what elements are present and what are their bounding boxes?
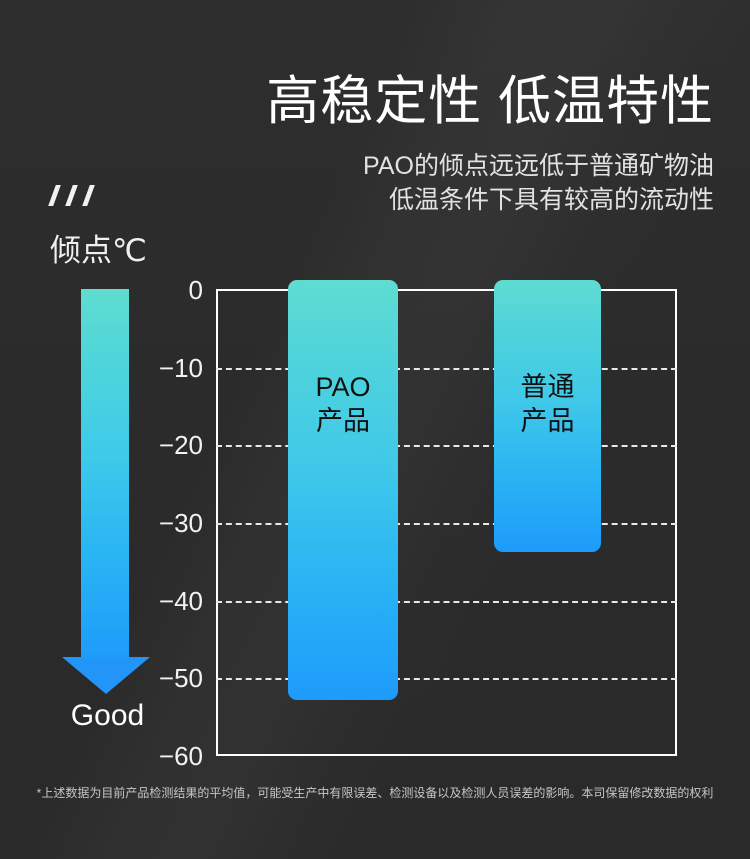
y-axis-title: 倾点℃ (50, 232, 147, 270)
arrow-head (62, 657, 150, 694)
bar-label-line-2: 产品 (288, 404, 398, 438)
y-tick-label: −10 (159, 355, 203, 381)
y-tick-label: −60 (159, 743, 203, 769)
bar-label-line-1: PAO (288, 370, 398, 404)
slash-mark-2 (65, 185, 78, 206)
y-tick-label: −50 (159, 665, 203, 691)
slash-mark-1 (48, 185, 61, 206)
y-tick-label: −30 (159, 510, 203, 536)
subtitle-line-1: PAO的倾点远远低于普通矿物油 (0, 149, 714, 183)
slash-mark-3 (82, 185, 95, 206)
gridline (216, 368, 677, 370)
y-tick-label: 0 (189, 277, 203, 303)
y-tick-label: −40 (159, 588, 203, 614)
down-arrow-icon (62, 289, 150, 694)
arrow-shaft (81, 289, 129, 661)
y-tick-label: −20 (159, 432, 203, 458)
page-title: 高稳定性 低温特性 (0, 72, 714, 132)
bar-label-line-2: 产品 (494, 404, 601, 438)
gridline (216, 678, 677, 680)
bar-pao[interactable]: PAO 产品 (288, 280, 398, 700)
bar-label-pao: PAO 产品 (288, 370, 398, 438)
gridline (216, 523, 677, 525)
poster-root: 高稳定性 低温特性 PAO的倾点远远低于普通矿物油 低温条件下具有较高的流动性 … (0, 0, 750, 859)
bar-label-ordinary: 普通 产品 (494, 370, 601, 438)
bar-ordinary[interactable]: 普通 产品 (494, 280, 601, 552)
gridline (216, 601, 677, 603)
slash-decoration-icon (50, 185, 110, 209)
chart-plot-area: 0 −10 −20 −30 −40 −50 −60 PAO (216, 290, 677, 756)
good-label: Good (50, 698, 165, 734)
bar-label-line-1: 普通 (494, 370, 601, 404)
header: 高稳定性 低温特性 PAO的倾点远远低于普通矿物油 低温条件下具有较高的流动性 (0, 0, 750, 217)
footnote: *上述数据为目前产品检测结果的平均值，可能受生产中有限误差、检测设备以及检测人员… (0, 784, 750, 802)
gridline (216, 445, 677, 447)
